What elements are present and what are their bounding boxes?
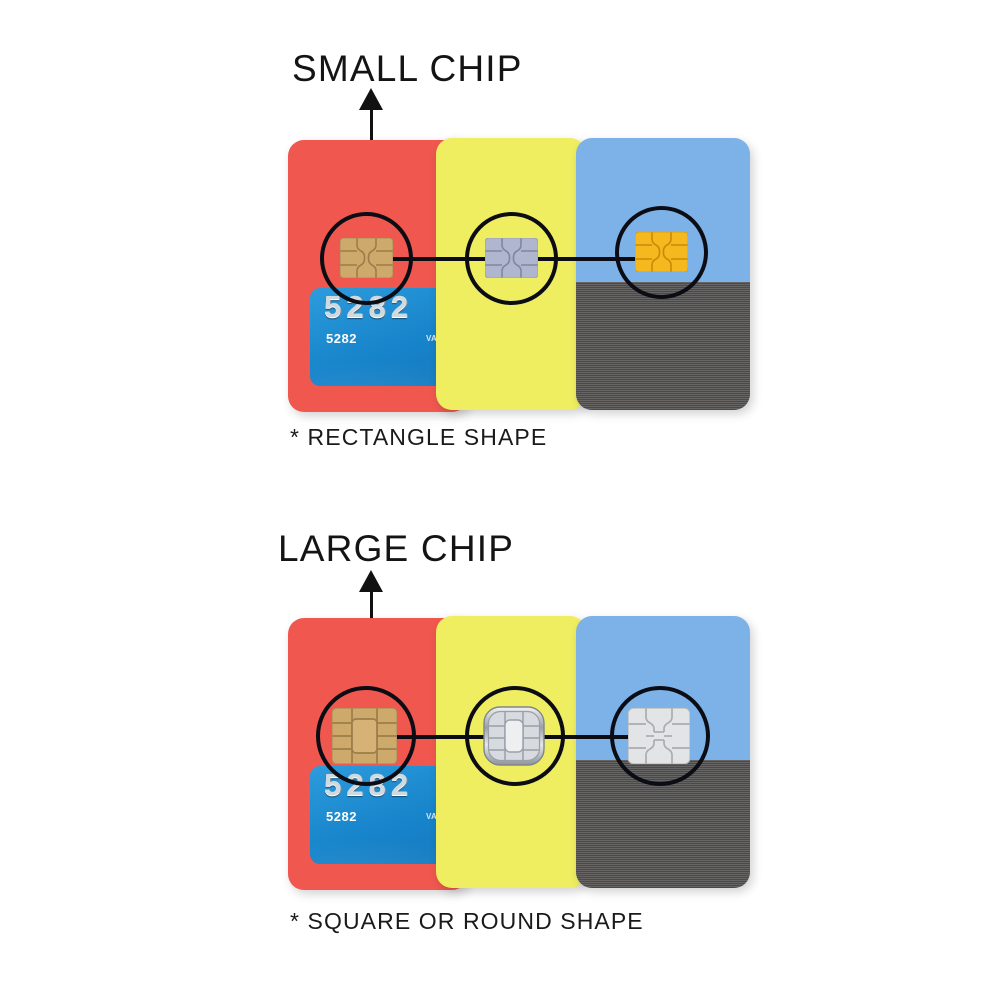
small-chip-card-group: 5282 8 5282 VALID TH <box>288 140 750 412</box>
round-silver-chip <box>483 706 545 766</box>
section-title-small-chip: SMALL CHIP <box>292 48 523 90</box>
caption-square-or-round-shape: * SQUARE OR ROUND SHAPE <box>290 908 644 935</box>
magnetic-stripe-small <box>576 282 750 410</box>
square-white-chip <box>628 708 690 764</box>
section-title-large-chip: LARGE CHIP <box>278 528 514 570</box>
infographic-canvas: SMALL CHIP 5282 8 5282 VALID TH <box>0 0 1000 1000</box>
square-gold-chip <box>332 708 397 764</box>
embossed-card-number-small: 5282 <box>326 809 357 824</box>
caption-rectangle-shape: * RECTANGLE SHAPE <box>290 424 547 451</box>
embossed-card-number-small: 5282 <box>326 331 357 346</box>
rectangle-silver-chip <box>485 238 538 278</box>
large-chip-card-group: 5282 8 5282 VALID TH <box>288 618 750 890</box>
rectangle-yellow-chip <box>635 232 688 272</box>
rectangle-gold-chip <box>340 238 393 278</box>
